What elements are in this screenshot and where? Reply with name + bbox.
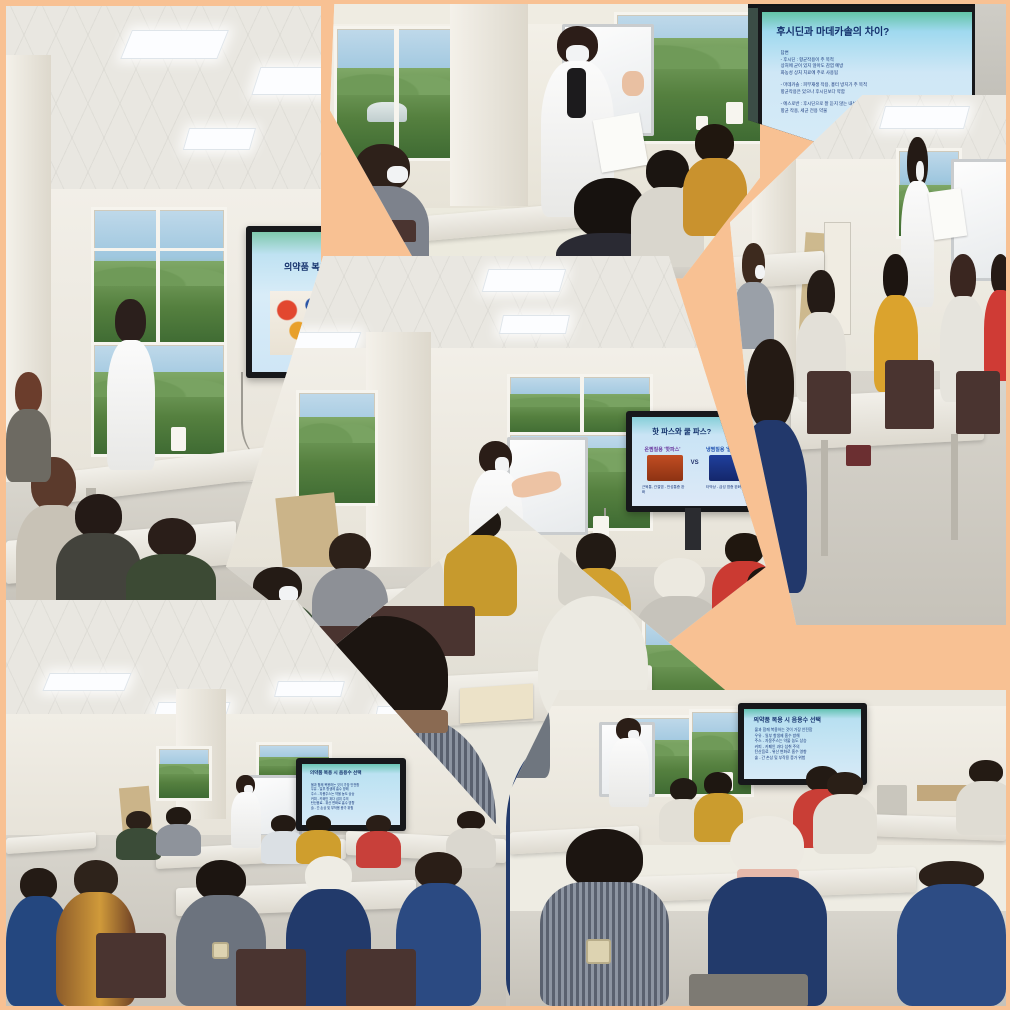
presenter-bottom-left <box>231 775 261 848</box>
panel-right[interactable]: 착석한 참석자들과 서 있는 약사 <box>730 95 1006 625</box>
slide-title: 후시딘과 마데카솔의 차이? <box>776 23 889 38</box>
attendee-striped-apron <box>540 829 669 1006</box>
presenter-bottom-right <box>609 718 649 806</box>
panel-bottom-right[interactable]: 의약품 복용 시 음용수 선택 물과 함께 복용하는 것이 가장 안전함 우유 … <box>510 690 1006 1006</box>
slide-right-caption: 타박상 - 급성 염증 완화 <box>706 485 750 490</box>
slide-title: 의약품 복용 시 음용수 선택 <box>310 770 362 776</box>
slide-title: 의약품 복용 시 음용수 선택 <box>754 715 821 724</box>
presenter-top-left <box>106 299 156 470</box>
tv-display-center: 핫 파스와 쿨 파스? 온찜질용 '핫파스' 냉찜질용 '쿨파스' VS 근육통… <box>626 411 766 512</box>
slide-right-label: 냉찜질용 '쿨파스' <box>706 446 742 453</box>
slide-left-label: 온찜질용 '핫파스' <box>644 446 680 453</box>
slide-body: 물과 함께 복용하는 것이 가장 안전함 우유 - 일부 항생제 흡수 방해 주… <box>755 728 854 761</box>
panel-top-center[interactable]: 약사가 화이트보드를 가리키며 설명 <box>330 4 760 284</box>
slide-title: 핫 파스와 쿨 파스? <box>652 426 711 437</box>
slide-center: 핫 파스와 쿨 파스? 온찜질용 '핫파스' 냉찜질용 '쿨파스' VS 근육통… <box>632 417 760 506</box>
slide-versus-label: VS <box>691 460 699 466</box>
photo-collage: 의약품 복용 주요 Q&A <box>0 0 1010 1010</box>
slide-left-caption: 근육통, 관절염 - 만성통증 완화 <box>642 485 686 495</box>
slide-body: 물과 함께 복용하는 것이 가장 안전함 우유 - 일부 항생제 흡수 방해 주… <box>311 783 394 811</box>
